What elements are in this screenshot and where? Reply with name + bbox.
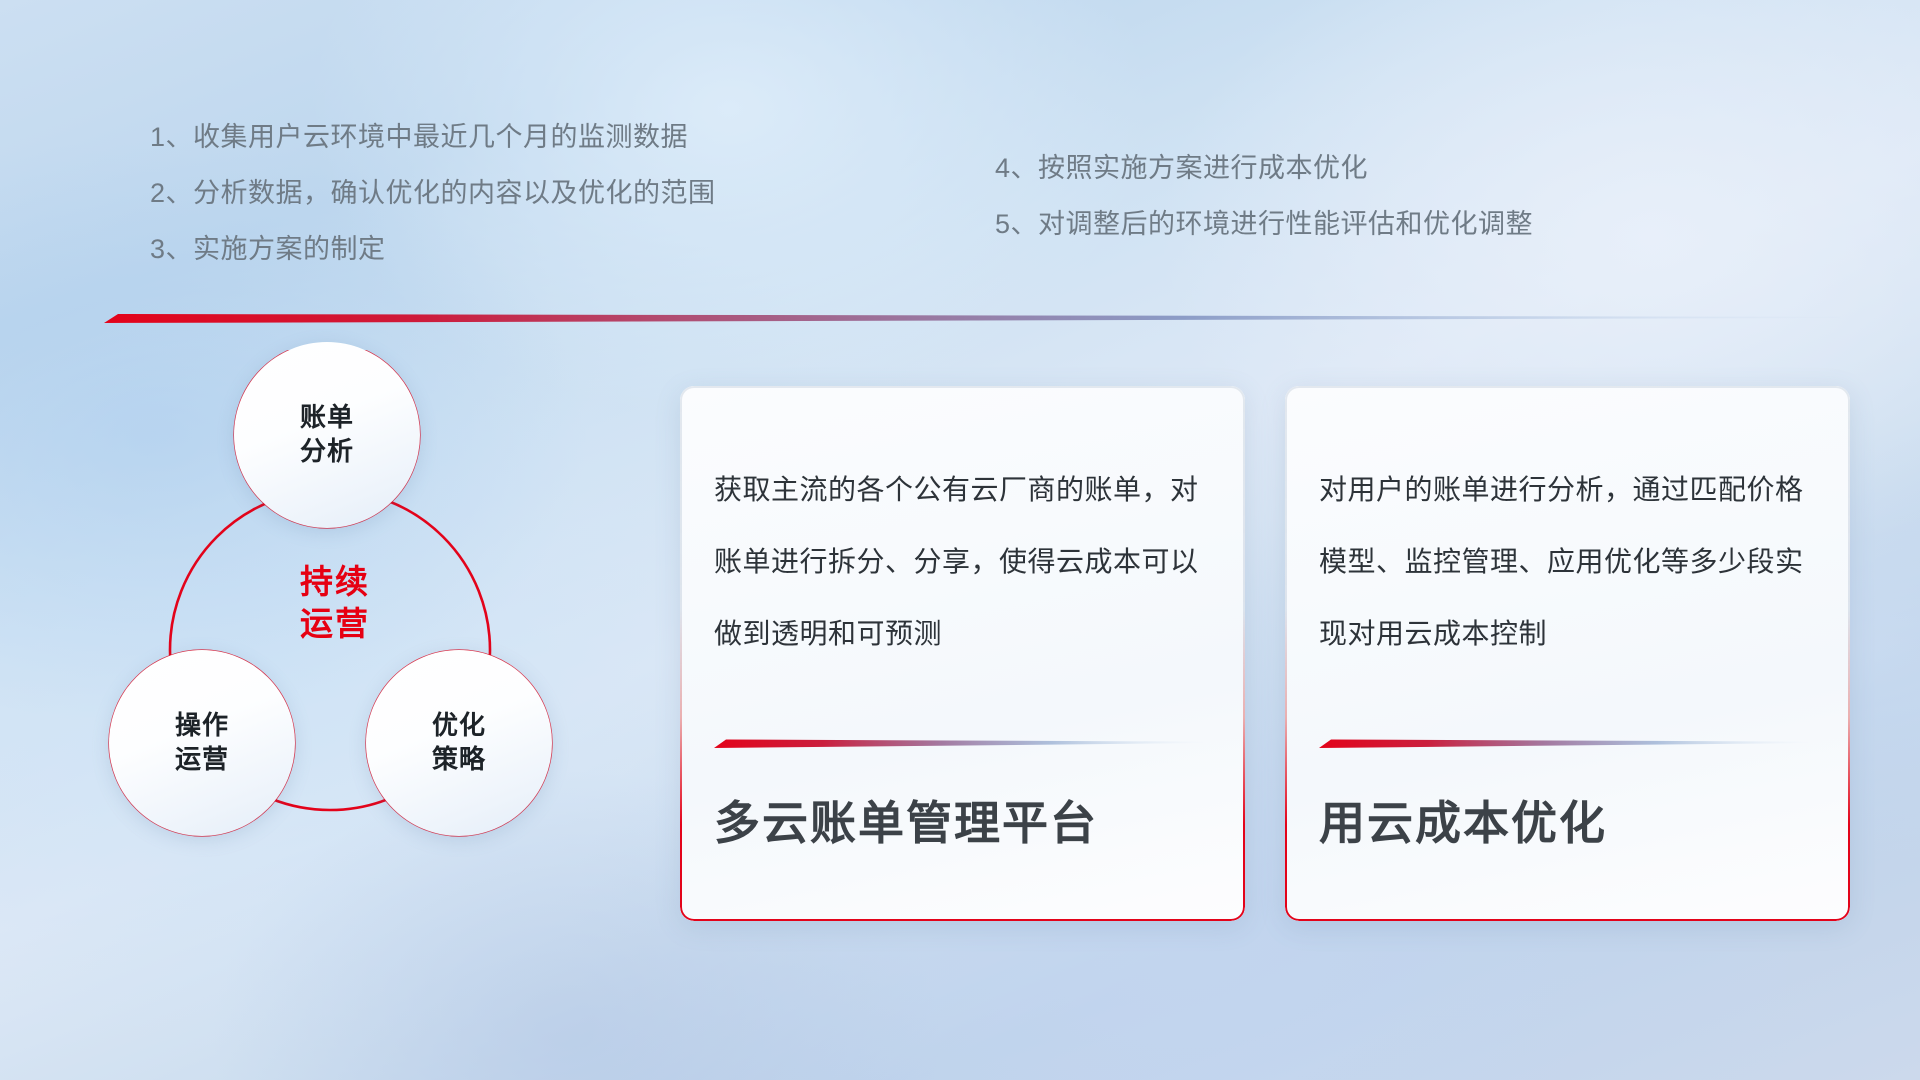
step-item: 3、实施方案的制定: [150, 236, 716, 263]
card-cloud-cost-optimization[interactable]: 对用户的账单进行分析，通过匹配价格模型、监控管理、应用优化等多少段实现对用云成本…: [1285, 386, 1850, 921]
step-item: 5、对调整后的环境进行性能评估和优化调整: [995, 211, 1533, 238]
card-body-text: 对用户的账单进行分析，通过匹配价格模型、监控管理、应用优化等多少段实现对用云成本…: [1319, 454, 1819, 671]
bubble-label-line2: 运营: [175, 743, 229, 777]
card-divider: [714, 737, 1210, 749]
diagram-center-label: 持续 运营: [255, 561, 415, 645]
bubble-bill-analysis[interactable]: 账单 分析: [234, 342, 420, 528]
bubble-label-line2: 策略: [432, 743, 486, 777]
step-item: 4、按照实施方案进行成本优化: [995, 155, 1533, 182]
section-divider: [104, 311, 1840, 325]
step-item: 1、收集用户云环境中最近几个月的监测数据: [150, 124, 716, 151]
card-divider: [1319, 737, 1815, 749]
center-label-line1: 持续: [255, 561, 415, 603]
card-multi-cloud-billing-platform[interactable]: 获取主流的各个公有云厂商的账单，对账单进行拆分、分享，使得云成本可以做到透明和可…: [680, 386, 1245, 921]
bubble-label-line1: 账单: [300, 401, 354, 435]
step-item: 2、分析数据，确认优化的内容以及优化的范围: [150, 180, 716, 207]
card-title: 多云账单管理平台: [714, 787, 1214, 853]
bubble-operations[interactable]: 操作 运营: [109, 650, 295, 836]
card-title: 用云成本优化: [1319, 787, 1819, 853]
bubble-label-line2: 分析: [300, 435, 354, 469]
center-label-line2: 运营: [255, 603, 415, 645]
card-body-text: 获取主流的各个公有云厂商的账单，对账单进行拆分、分享，使得云成本可以做到透明和可…: [714, 454, 1214, 671]
steps-list-right: 4、按照实施方案进行成本优化 5、对调整后的环境进行性能评估和优化调整: [995, 155, 1533, 267]
bubble-optimization-policy[interactable]: 优化 策略: [366, 650, 552, 836]
steps-list-left: 1、收集用户云环境中最近几个月的监测数据 2、分析数据，确认优化的内容以及优化的…: [150, 124, 716, 292]
bubble-label-line1: 操作: [175, 709, 229, 743]
bubble-label-line1: 优化: [432, 709, 486, 743]
continuous-operation-diagram: 账单 分析 操作 运营 优化 策略 持续 运营: [100, 350, 660, 950]
slide-canvas: 1、收集用户云环境中最近几个月的监测数据 2、分析数据，确认优化的内容以及优化的…: [0, 0, 1920, 1080]
